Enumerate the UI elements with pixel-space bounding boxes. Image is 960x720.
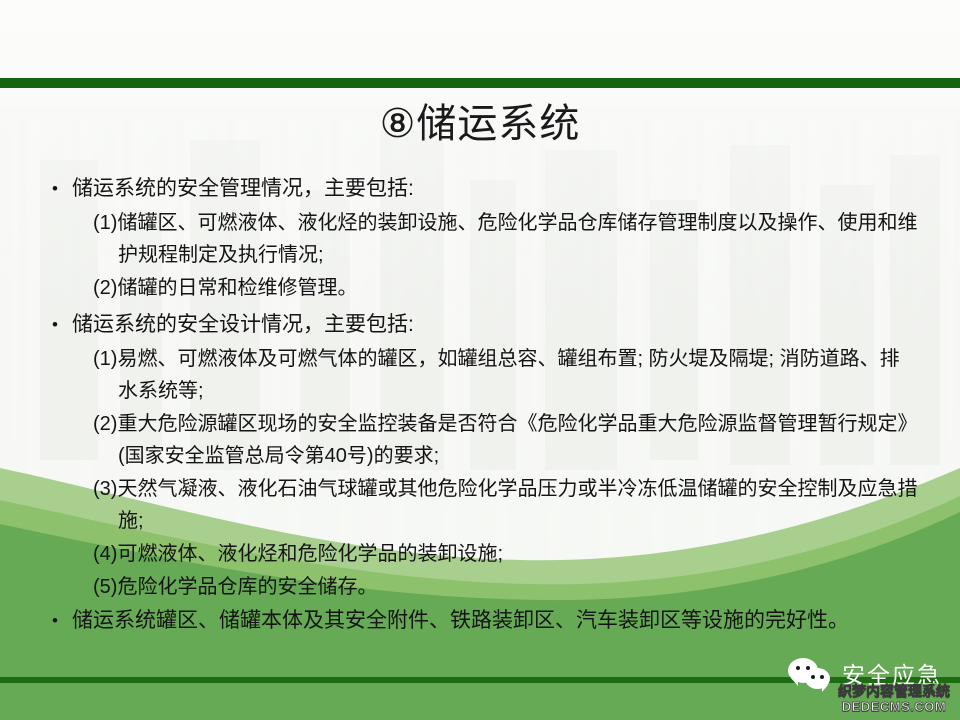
bullet-marker: • [52, 604, 72, 637]
sub-item: (5)危险化学品仓库的安全储存。 [77, 571, 918, 603]
sub-item: (3)天然气凝液、液化石油气球罐或其他危险化学品压力或半冷冻低温储罐的安全控制及… [77, 473, 918, 537]
wechat-eye-icon [820, 675, 824, 679]
slide-body: • 储运系统的安全管理情况，主要包括: (1)储罐区、可燃液体、液化烃的装卸设施… [52, 172, 918, 639]
wechat-bubble-small-icon [805, 668, 830, 689]
wechat-bubble-tail-icon [791, 678, 798, 686]
bullet-marker: • [52, 172, 72, 205]
bullet-item: • 储运系统罐区、储罐本体及其安全附件、铁路装卸区、汽车装卸区等设施的完好性。 [52, 604, 918, 637]
bullet-marker: • [52, 308, 72, 341]
slide-title: ⑧储运系统 [0, 98, 960, 150]
watermark-en-text: DEDECMS.COM [838, 700, 950, 713]
presentation-slide: ⑧储运系统 • 储运系统的安全管理情况，主要包括: (1)储罐区、可燃液体、液化… [0, 0, 960, 720]
sub-item: (2)储罐的日常和检维修管理。 [77, 272, 918, 304]
bullet-text: 储运系统罐区、储罐本体及其安全附件、铁路装卸区、汽车装卸区等设施的完好性。 [72, 604, 918, 637]
wechat-eye-icon [796, 666, 800, 670]
sub-item: (4)可燃液体、液化烃和危险化学品的装卸设施; [77, 538, 918, 570]
watermark-cn-text: 织梦内容管理系统 [838, 684, 950, 698]
wechat-icon [788, 658, 834, 692]
bullet-text: 储运系统的安全管理情况，主要包括: [72, 172, 918, 205]
bullet-text: 储运系统的安全设计情况，主要包括: [72, 308, 918, 341]
wechat-eye-icon [811, 675, 815, 679]
bullet-item: • 储运系统的安全管理情况，主要包括: [52, 172, 918, 205]
bullet-item: • 储运系统的安全设计情况，主要包括: [52, 308, 918, 341]
sub-item: (1)易燃、可燃液体及可燃气体的罐区，如罐组总容、罐组布置; 防火堤及隔堤; 消… [77, 343, 918, 407]
sub-item: (1)储罐区、可燃液体、液化烃的装卸设施、危险化学品仓库储存管理制度以及操作、使… [77, 207, 918, 271]
wechat-bubble-tail-icon [822, 685, 828, 692]
top-green-rule [0, 78, 960, 88]
site-watermark: 织梦内容管理系统 DEDECMS.COM [838, 684, 950, 713]
sub-item: (2)重大危险源罐区现场的安全监控装备是否符合《危险化学品重大危险源监督管理暂行… [77, 408, 918, 472]
